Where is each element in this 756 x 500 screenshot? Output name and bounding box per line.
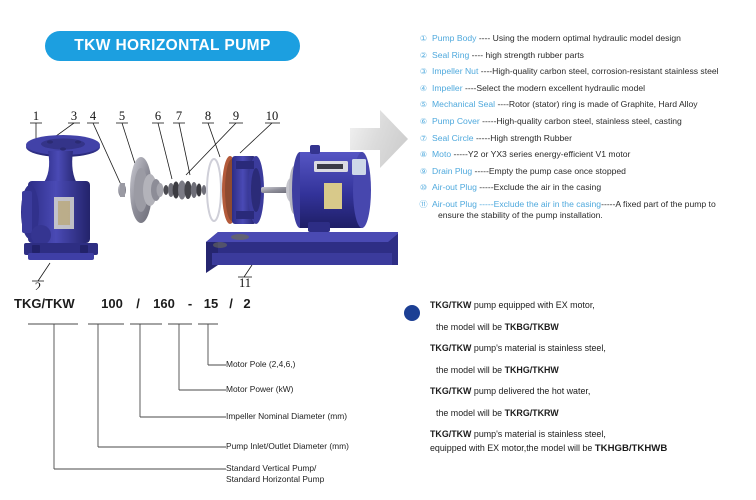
part-dash-2: ---- <box>469 50 485 60</box>
part-dash-6: ----- <box>480 116 497 126</box>
part-desc-6: High-quality carbon steel, stainless ste… <box>496 116 681 126</box>
callout-9: 9 <box>233 109 239 123</box>
impeller-nut-graphic <box>118 183 126 197</box>
variant-line-6: the model will be TKRG/TKRW <box>436 408 754 419</box>
variant-6-text: the model will be <box>436 408 505 418</box>
pump-body-graphic <box>21 135 100 260</box>
legend-label-standard-pump-line2: Standard Horizontal Pump <box>226 474 324 485</box>
variant-line-7: TKG/TKW pump's material is stainless ste… <box>430 429 754 440</box>
variant-8-model: TKHGB/TKHWB <box>595 443 667 454</box>
part-number-3: ③ <box>418 66 429 76</box>
part-name-2: Seal Ring <box>432 50 469 60</box>
legend-leader-lines <box>14 296 400 494</box>
right-arrow-icon <box>348 104 410 174</box>
part-desc-3: High-quality carbon steel, corrosion-res… <box>492 66 718 76</box>
part-name-4: Impeller <box>432 83 463 93</box>
model-designation-legend: TKG/TKW100/160-15/2 Motor <box>14 296 400 494</box>
list-item: ⑥ Pump Cover -----High-quality carbon st… <box>418 116 754 127</box>
part-dash-7: ----- <box>474 133 491 143</box>
base-plate-graphic <box>206 232 398 273</box>
part-name-1: Pump Body <box>432 33 476 43</box>
part-name-3: Impeller Nut <box>432 66 478 76</box>
parts-description-list: ① Pump Body ---- Using the modern optima… <box>418 33 754 227</box>
part-desc-5: Rotor (stator) ring is made of Graphite,… <box>509 99 698 109</box>
legend-label-inlet-outlet-diameter: Pump Inlet/Outlet Diameter (mm) <box>226 441 349 452</box>
variant-line-1: TKG/TKW pump equipped with EX motor, <box>430 300 754 311</box>
variant-6-model: TKRG/TKRW <box>505 408 559 418</box>
legend-label-motor-power: Motor Power (kW) <box>226 384 293 395</box>
callout-5: 5 <box>119 109 125 123</box>
list-item: ⑤ Mechanical Seal ----Rotor (stator) rin… <box>418 99 754 110</box>
list-item: ⑪ Air-out Plug -----Exclude the air in t… <box>418 199 754 221</box>
part-name-7: Seal Circle <box>432 133 474 143</box>
list-item: ⑩ Air-out Plug -----Exclude the air in t… <box>418 182 754 193</box>
part-name-9: Drain Plug <box>432 166 472 176</box>
part-number-6: ⑥ <box>418 116 429 126</box>
part-desc-11: A fixed part of the pump to <box>615 199 715 209</box>
callout-6: 6 <box>155 109 161 123</box>
list-item: ⑦ Seal Circle -----High strength Rubber <box>418 133 754 144</box>
part-dash-11: ----- <box>601 199 615 209</box>
part-dash-4: ---- <box>463 83 477 93</box>
list-item: ③ Impeller Nut ----High-quality carbon s… <box>418 66 754 77</box>
bullet-dot-icon <box>404 305 420 321</box>
model-variants-block: TKG/TKW pump equipped with EX motor, the… <box>404 300 754 465</box>
list-item: ② Seal Ring ---- high strength rubber pa… <box>418 50 754 61</box>
variant-2-model: TKBG/TKBW <box>505 322 559 332</box>
legend-label-impeller-diameter: Impeller Nominal Diameter (mm) <box>226 411 347 422</box>
part-desc-4: Select the modern excellent hydraulic mo… <box>476 83 645 93</box>
variant-3-prefix: TKG/TKW <box>430 343 471 353</box>
variant-5-prefix: TKG/TKW <box>430 386 471 396</box>
variant-7-prefix: TKG/TKW <box>430 429 471 439</box>
part-number-2: ② <box>418 50 429 60</box>
variant-8-text: equipped with EX motor,the model will be <box>430 443 595 453</box>
part-name-6: Pump Cover <box>432 116 480 126</box>
page-title: TKW HORIZONTAL PUMP <box>74 37 270 55</box>
variant-4-model: TKHG/TKHW <box>505 365 559 375</box>
callout-8: 8 <box>205 109 211 123</box>
pump-cover-graphic <box>222 156 264 224</box>
page-title-banner: TKW HORIZONTAL PUMP <box>45 31 300 61</box>
part-number-5: ⑤ <box>418 99 429 109</box>
variant-1-prefix: TKG/TKW <box>430 300 471 310</box>
part-dash-8: ----- <box>451 149 468 159</box>
variant-line-3: TKG/TKW pump's material is stainless ste… <box>430 343 754 354</box>
variant-line-8: equipped with EX motor,the model will be… <box>430 443 754 454</box>
callout-2: 2 <box>35 280 41 290</box>
list-item: ④ Impeller ----Select the modern excelle… <box>418 83 754 94</box>
part-desc-7: High strength Rubber <box>490 133 572 143</box>
part-number-8: ⑧ <box>418 149 429 159</box>
part-dash-5: ---- <box>495 99 509 109</box>
part-desc-10: Exclude the air in the casing <box>494 182 602 192</box>
part-number-9: ⑨ <box>418 166 429 176</box>
part-desc-8: Y2 or YX3 series energy-efficient V1 mot… <box>468 149 631 159</box>
part-dash-3: ---- <box>478 66 492 76</box>
part-name-11: Air-out Plug -----Exclude the air in the… <box>432 199 601 209</box>
variant-line-5: TKG/TKW pump delivered the hot water, <box>430 386 754 397</box>
legend-label-motor-pole: Motor Pole (2,4,6,) <box>226 359 295 370</box>
variant-2-text: the model will be <box>436 322 505 332</box>
legend-label-standard-pump-line1: Standard Vertical Pump/ <box>226 463 316 474</box>
seal-circle-graphic <box>207 159 221 221</box>
list-item: ⑨ Drain Plug -----Empty the pump case on… <box>418 166 754 177</box>
list-item: ⑧ Moto -----Y2 or YX3 series energy-effi… <box>418 149 754 160</box>
variant-4-text: the model will be <box>436 365 505 375</box>
variant-3-text: pump's material is stainless steel, <box>471 343 605 353</box>
callout-10: 10 <box>266 109 279 123</box>
part-name-8: Moto <box>432 149 451 159</box>
part-desc-9: Empty the pump case once stopped <box>489 166 626 176</box>
part-number-4: ④ <box>418 83 429 93</box>
part-dash-1: ---- <box>476 33 492 43</box>
part-desc-2: high strength rubber parts <box>486 50 584 60</box>
variant-1-text: pump equipped with EX motor, <box>471 300 594 310</box>
part-number-7: ⑦ <box>418 133 429 143</box>
part-name-5: Mechanical Seal <box>432 99 495 109</box>
callout-3: 3 <box>71 109 77 123</box>
callout-1: 1 <box>33 109 39 123</box>
part-number-1: ① <box>418 33 429 43</box>
part-dash-10: ----- <box>477 182 494 192</box>
variant-line-2: the model will be TKBG/TKBW <box>436 322 754 333</box>
impeller-graphic <box>130 157 164 223</box>
part-desc-1: Using the modern optimal hydraulic model… <box>493 33 681 43</box>
part-number-10: ⑩ <box>418 182 429 192</box>
exploded-pump-diagram: 1 3 4 5 6 7 8 9 10 2 11 <box>8 95 398 290</box>
part-name-10: Air-out Plug <box>432 182 477 192</box>
variant-7-text: pump's material is stainless steel, <box>471 429 605 439</box>
list-item: ① Pump Body ---- Using the modern optima… <box>418 33 754 44</box>
part-dash-9: ----- <box>472 166 489 176</box>
part-number-11: ⑪ <box>418 199 429 209</box>
variant-5-text: pump delivered the hot water, <box>471 386 590 396</box>
mechanical-seal-graphic <box>164 181 207 200</box>
callout-11: 11 <box>239 276 251 290</box>
part-desc-11-line2: ensure the stability of the pump install… <box>438 210 754 221</box>
callout-4: 4 <box>90 109 97 123</box>
variant-line-4: the model will be TKHG/TKHW <box>436 365 754 376</box>
callout-7: 7 <box>176 109 182 123</box>
